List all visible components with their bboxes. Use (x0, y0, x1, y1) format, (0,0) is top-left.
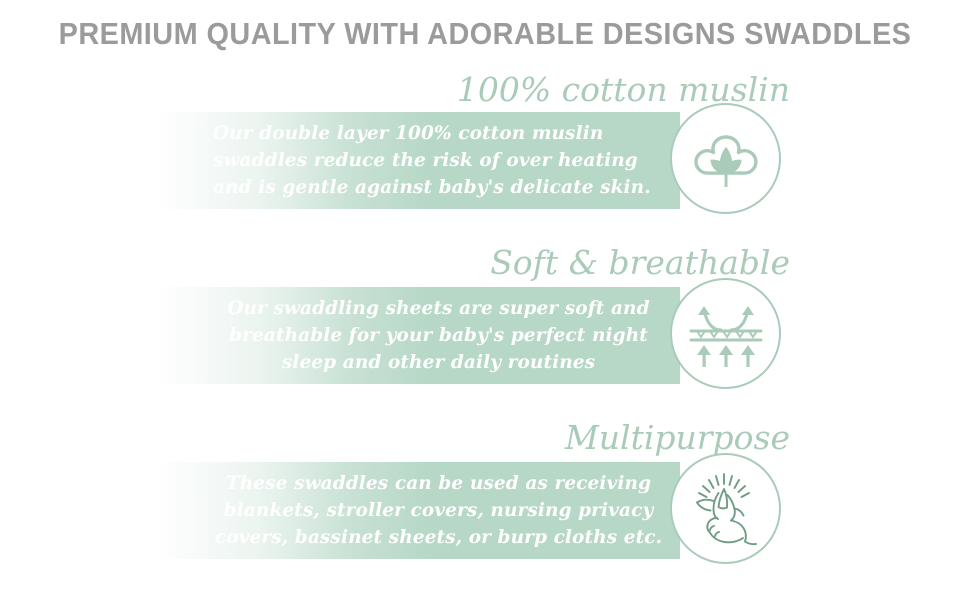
cotton-boll-icon (670, 103, 781, 214)
feature-body-multipurpose: These swaddles can be used as receiving … (213, 470, 664, 551)
page-title: PREMIUM QUALITY WITH ADORABLE DESIGNS SW… (34, 16, 936, 52)
promo-infographic: PREMIUM QUALITY WITH ADORABLE DESIGNS SW… (0, 0, 970, 600)
feature-title-multipurpose: Multipurpose (0, 418, 790, 457)
feature-body-breathable: Our swaddling sheets are super soft and … (213, 295, 664, 376)
breathable-fabric-arrows-icon (670, 278, 781, 389)
hand-pinching-fabric-icon (670, 453, 781, 564)
feature-banner-breathable: Our swaddling sheets are super soft and … (155, 287, 680, 384)
feature-title-breathable: Soft & breathable (0, 243, 790, 282)
feature-body-cotton: Our double layer 100% cotton muslin swad… (213, 120, 664, 201)
feature-banner-multipurpose: These swaddles can be used as receiving … (155, 462, 680, 559)
feature-title-cotton: 100% cotton muslin (0, 70, 790, 109)
feature-banner-cotton: Our double layer 100% cotton muslin swad… (155, 112, 680, 209)
